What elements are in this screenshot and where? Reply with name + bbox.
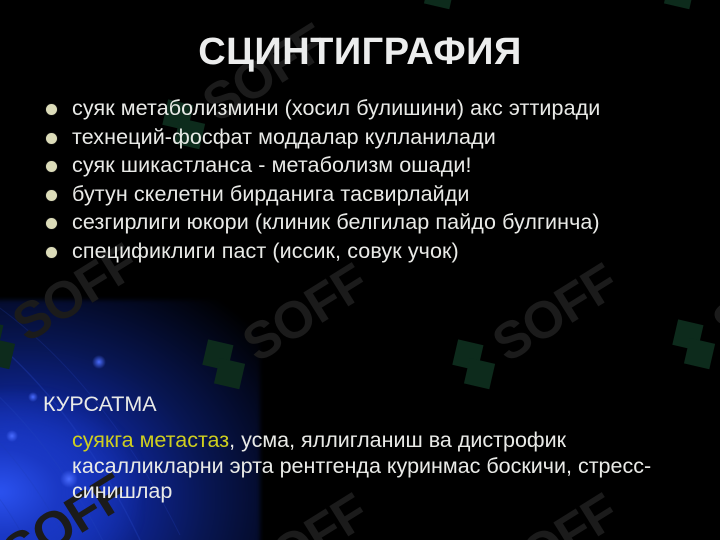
slide-title: СЦИНТИГРАФИЯ [0, 33, 720, 73]
list-item-label: суяк метаболизмини (хосил булишини) акс … [72, 96, 600, 120]
bullet-dot-icon [46, 218, 57, 229]
presentation-slide: SOFF SOFF SOFF SOFF SOFF SOFF SOFF SOFF [0, 0, 720, 540]
list-item-label: сезгирлиги юкори (клиник белгилар пайдо … [72, 210, 600, 234]
bullet-dot-icon [46, 104, 57, 115]
list-item: суяк шикастланса - метаболизм ошади! [36, 153, 676, 179]
bullet-dot-icon [46, 161, 57, 172]
bullet-dot-icon [46, 133, 57, 144]
section-label: КУРСАТМА [43, 392, 157, 418]
indication-note: суякга метастаз, усма, яллигланиш ва дис… [72, 428, 672, 505]
slide-content: СЦИНТИГРАФИЯ суяк метаболизмини (хосил б… [0, 0, 720, 540]
list-item-label: спецификлиги паст (иссик, совук учок) [72, 239, 459, 263]
list-item: суяк метаболизмини (хосил булишини) акс … [36, 96, 676, 122]
list-item-label: бутун скелетни бирданига тасвирлайди [72, 182, 470, 206]
list-item-label: суяк шикастланса - метаболизм ошади! [72, 153, 472, 177]
list-item: сезгирлиги юкори (клиник белгилар пайдо … [36, 210, 676, 236]
list-item: спецификлиги паст (иссик, совук учок) [36, 239, 676, 265]
bullet-dot-icon [46, 190, 57, 201]
list-item: бутун скелетни бирданига тасвирлайди [36, 182, 676, 208]
note-highlight-text: суякга метастаз [72, 428, 229, 452]
list-item: технеций-фосфат моддалар кулланилади [36, 125, 676, 151]
bullet-dot-icon [46, 247, 57, 258]
bullet-list: суяк метаболизмини (хосил булишини) акс … [36, 96, 676, 267]
list-item-label: технеций-фосфат моддалар кулланилади [72, 125, 496, 149]
